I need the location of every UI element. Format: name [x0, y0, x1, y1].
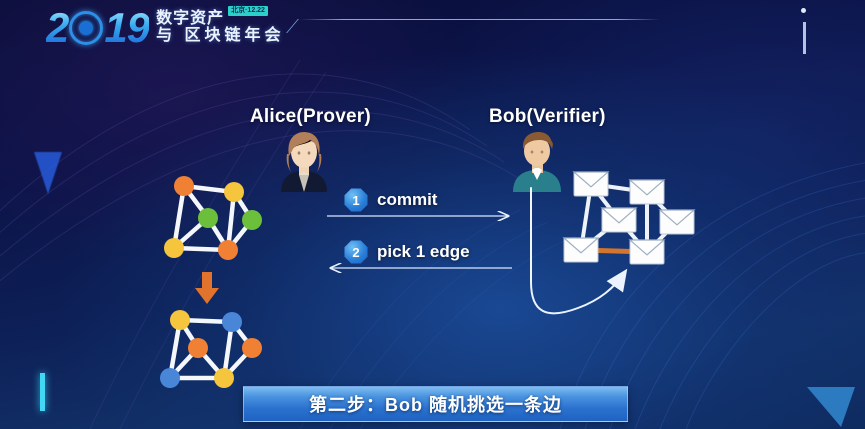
- logo-chinese-text: 数字资产北京·12.22 与 区块链年会: [156, 11, 284, 44]
- logo-date-badge: 北京·12.22: [228, 6, 268, 15]
- envelope-icon: [660, 210, 694, 234]
- caption-text: 第二步：Bob 随机挑选一条边: [309, 391, 562, 417]
- bob-verifier-label: Bob(Verifier): [489, 106, 606, 128]
- message-label-commit: commit: [377, 190, 437, 210]
- logo-year-digits-19: 19: [104, 7, 149, 49]
- dot-decoration-top-right: [801, 8, 806, 13]
- envelope-commitment-diagram: [556, 166, 716, 278]
- tick-decoration-top-right: [803, 22, 806, 54]
- graph-node: [222, 312, 242, 332]
- envelope-icon: [630, 240, 664, 264]
- logo-chinese-line2: 与 区块链年会: [156, 28, 284, 45]
- envelope-icon: [630, 180, 664, 204]
- header-horizontal-rule: [300, 19, 660, 20]
- logo-ring-icon: [69, 11, 103, 45]
- alice-avatar: [275, 130, 333, 192]
- graph-node: [160, 368, 180, 388]
- logo-chinese-line1: 数字资产北京·12.22: [156, 11, 284, 28]
- message-label-pick-edge: pick 1 edge: [377, 242, 470, 262]
- cyan-accent-bar: [40, 373, 45, 411]
- step-badge-1: 1: [344, 188, 368, 212]
- graph-node: [170, 310, 190, 330]
- background-wave-decoration: [0, 0, 865, 429]
- envelope-icon: [602, 208, 636, 232]
- envelope-icon: [574, 172, 608, 196]
- step-badge-2: 2: [344, 240, 368, 264]
- caption-banner: 第二步：Bob 随机挑选一条边: [243, 386, 628, 422]
- graph-node: [242, 210, 262, 230]
- recolored-graph-diagram: [148, 306, 278, 398]
- event-logo: 2 19 数字资产北京·12.22 与 区块链年会: [46, 4, 285, 52]
- logo-year-digit-2: 2: [46, 7, 68, 49]
- envelope-icon: [564, 238, 598, 262]
- triangle-decoration-left: [34, 152, 62, 194]
- graph-node: [198, 208, 218, 228]
- slide-canvas: 2 19 数字资产北京·12.22 与 区块链年会 Alice(Prover) …: [0, 0, 865, 429]
- triangle-decoration-bottom-right: [807, 387, 855, 427]
- logo-year: 2 19: [46, 7, 149, 49]
- graph-node: [218, 240, 238, 260]
- graph-node: [174, 176, 194, 196]
- graph-node: [164, 238, 184, 258]
- graph-node: [214, 368, 234, 388]
- original-graph-diagram: [148, 170, 278, 270]
- graph-node: [242, 338, 262, 358]
- graph-node: [188, 338, 208, 358]
- logo-chinese-line1-text: 数字资产: [156, 10, 224, 27]
- alice-prover-label: Alice(Prover): [250, 106, 371, 128]
- message-row-commit: 1 commit: [344, 188, 437, 212]
- transform-down-arrow-icon: [192, 272, 222, 306]
- graph-node: [224, 182, 244, 202]
- message-row-pick-edge: 2 pick 1 edge: [344, 240, 470, 264]
